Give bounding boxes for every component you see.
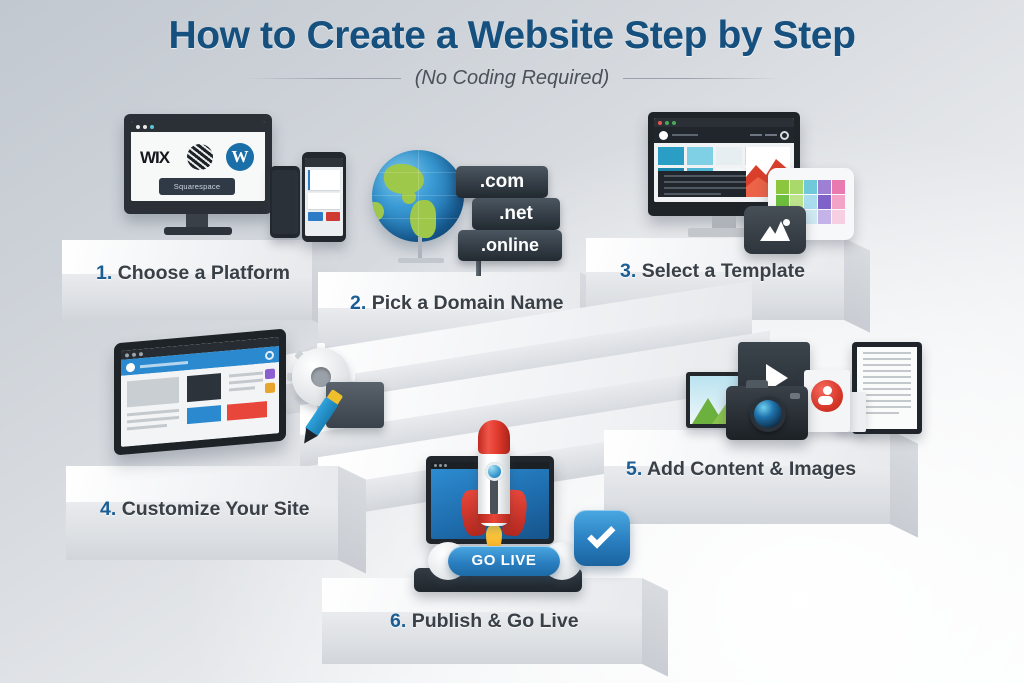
globe-stand [418,237,422,259]
nav-link-placeholder [750,134,762,136]
editor-block [187,373,221,402]
camera-icon [726,386,808,440]
window-dot-icon [434,464,437,467]
color-swatch [818,195,831,209]
text-line [127,416,179,424]
window-dot-icon [672,121,676,125]
color-swatch [818,180,831,194]
color-swatch [804,195,817,209]
go-live-button[interactable]: GO LIVE [448,546,560,576]
step-label-4: 4. Customize Your Site [100,498,310,521]
color-swatch [804,180,817,194]
window-dot-icon [439,464,442,467]
globe-icon [372,150,464,242]
camera-viewfinder [746,380,768,388]
text-line [863,412,899,414]
domain-sign-net: .net [472,198,560,230]
text-line [863,376,911,378]
step-number-2: 2. [350,292,366,314]
camera-lens [750,396,786,432]
step-number-3: 3. [620,260,636,282]
nav-right-group [750,131,789,140]
domain-sign-com: .com [456,166,548,198]
color-swatch [818,210,831,224]
color-swatch [265,368,275,379]
camera-flash [790,393,800,399]
monitor-stand-base [164,227,232,235]
platform-logo-area: WIX W Squarespace [131,132,265,201]
tablet-buttons [308,212,340,221]
step-number-6: 6. [390,610,406,632]
step-title-5: Add Content & Images [647,458,856,480]
editor-canvas [121,362,279,447]
template-nav-bar [654,127,794,143]
step-number-1: 1. [96,262,112,284]
window-dot-icon [658,121,662,125]
step-title-6: Publish & Go Live [412,610,579,632]
rocket-window [485,462,504,481]
text-line [863,352,911,354]
subtitle-rule-left [243,78,401,79]
globe-base [398,258,444,263]
text-line [863,406,911,408]
header-action-icon [265,350,274,360]
window-dot-icon [665,121,669,125]
infographic-canvas: How to Create a Website Step by Step (No… [0,0,1024,683]
window-dot-icon [150,125,154,129]
illustration-step-4 [114,336,394,486]
browser-chrome-bar [654,118,794,127]
color-swatch [832,180,845,194]
text-line [863,382,911,384]
text-line [863,394,911,396]
monitor-stand-neck [186,214,208,228]
text-line [229,386,255,391]
illustration-step-6: GO LIVE [414,428,644,598]
text-line [229,378,263,384]
color-swatch [265,382,275,393]
text-line [863,358,911,360]
squarespace-button[interactable]: Squarespace [159,178,235,195]
step-number-5: 5. [626,458,642,480]
subtitle-row: (No Coding Required) [0,67,1024,90]
template-tile [687,147,713,165]
person-head [823,386,832,395]
block-side [642,578,668,677]
rocket-shadow-stripe [490,476,498,516]
color-swatch [832,195,845,209]
wix-logo: WIX [140,148,169,168]
tablet-screen [305,158,343,236]
checkmark-badge-icon [574,510,630,566]
window-dot-icon [444,464,447,467]
mountain-peak [772,221,790,241]
tablet-card [308,193,340,209]
color-swatch [776,180,789,194]
illustration-step-5 [686,342,926,452]
text-line [863,388,911,390]
tablet-icon [302,152,346,242]
text-line [127,409,179,417]
text-line [863,370,911,372]
desktop-monitor-icon: WIX W Squarespace [124,114,272,214]
text-line [664,193,721,195]
illustration-step-3 [648,112,868,257]
nav-link-placeholder [765,134,777,136]
media-badge-card [804,370,850,432]
color-swatch [790,180,803,194]
tablet-card [308,170,340,190]
mountain-image-icon [758,219,792,241]
window-dot-icon [125,353,129,357]
step-label-3: 3. Select a Template [620,260,805,283]
tablet-primary-button [308,212,323,221]
template-tile [658,147,684,165]
text-line [863,400,911,402]
avatar [659,131,668,140]
header-title-placeholder [140,361,188,368]
step-title-2: Pick a Domain Name [372,292,564,314]
nav-circle-icon [780,131,789,140]
window-dot-icon [136,125,140,129]
illustration-step-2: .com .net .online [372,132,562,272]
smartphone-icon [270,166,300,238]
step-label-1: 1. Choose a Platform [96,262,290,285]
step-title-1: Choose a Platform [118,262,290,284]
phone-screen [272,170,298,234]
page-title: How to Create a Website Step by Step [0,14,1024,58]
template-tile [716,147,742,165]
color-swatch [832,210,845,224]
nav-text-placeholder [672,134,698,136]
text-line [127,424,167,430]
page-subtitle: (No Coding Required) [415,67,610,90]
check-icon [587,520,615,548]
rocket-icon [466,428,522,560]
text-line [229,371,263,377]
wordpress-logo-icon: W [226,143,254,171]
monitor-screen: WIX W Squarespace [131,121,265,201]
document-page [857,347,917,429]
window-dot-icon [143,125,147,129]
text-line [863,364,911,366]
subtitle-rule-right [623,78,781,79]
step-title-4: Customize Your Site [122,498,310,520]
step-label-5: 5. Add Content & Images [626,458,856,481]
person-body [818,396,833,405]
editor-block [127,377,179,408]
header: How to Create a Website Step by Step (No… [0,14,1024,90]
globe-meridian-line [418,150,419,242]
illustration-step-1: WIX W Squarespace [124,114,354,246]
step-label-6: 6. Publish & Go Live [390,610,579,633]
tablet-secondary-button [326,212,341,221]
contact-badge-icon [811,380,843,412]
step-label-2: 2. Pick a Domain Name [350,292,564,315]
image-placeholder-card [744,206,806,254]
squarespace-mark-icon [187,144,213,170]
domain-sign-online: .online [458,230,562,261]
editor-block [187,405,221,424]
browser-chrome-bar [131,121,265,132]
rocket-stripe [478,514,510,523]
laptop-icon [114,328,286,455]
avatar [126,362,135,372]
laptop-screen [121,337,279,447]
editor-block [227,401,267,420]
window-dot-icon [132,352,136,356]
window-dot-icon [139,351,143,355]
step-number-4: 4. [100,498,116,520]
tablet-header [305,158,343,167]
rocket-nose-cone [478,420,510,454]
step-title-3: Select a Template [642,260,805,282]
